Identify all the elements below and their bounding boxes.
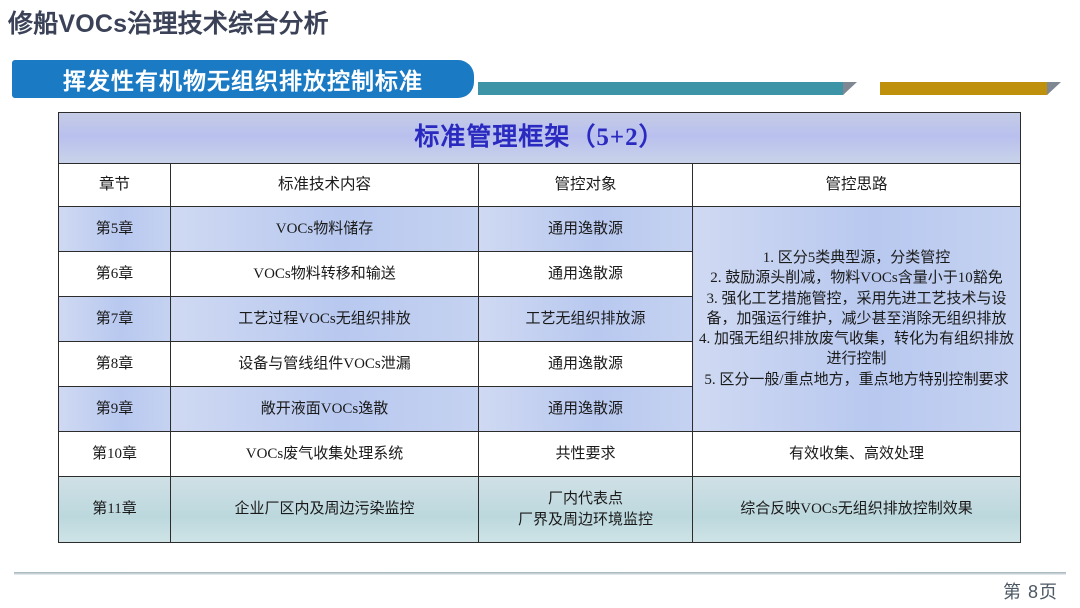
cell-content: VOCs物料储存 [171, 207, 479, 252]
slide-canvas: 修船VOCs治理技术综合分析 挥发性有机物无组织排放控制标准 [0, 0, 1080, 608]
decorative-gold-bar [880, 82, 1060, 95]
cell-chapter: 第7章 [59, 297, 171, 342]
cell-chapter: 第5章 [59, 207, 171, 252]
cell-target-line-2: 厂界及周边环境监控 [479, 510, 692, 530]
cell-content: VOCs废气收集处理系统 [171, 432, 479, 477]
cell-chapter: 第10章 [59, 432, 171, 477]
guidance-line-2: 2. 鼓励源头削减，物料VOCs含量小于10豁免 [693, 268, 1020, 288]
standard-framework-table: 标准管理框架（5+2） 章节 标准技术内容 管控对象 管控思路 第5章 VOCs… [58, 112, 1021, 543]
guidance-line-1: 1. 区分5类典型源，分类管控 [693, 248, 1020, 268]
decorative-gold-bar-tip [1047, 82, 1061, 95]
cell-target: 厂内代表点 厂界及周边环境监控 [479, 477, 693, 543]
section-banner: 挥发性有机物无组织排放控制标准 [12, 60, 474, 98]
cell-approach: 有效收集、高效处理 [693, 432, 1021, 477]
cell-target: 工艺无组织排放源 [479, 297, 693, 342]
page-number: 第 8页 [1003, 578, 1058, 604]
cell-approach-merged: 1. 区分5类典型源，分类管控 2. 鼓励源头削减，物料VOCs含量小于10豁免… [693, 207, 1021, 432]
table-row: 第11章 企业厂区内及周边污染监控 厂内代表点 厂界及周边环境监控 综合反映VO… [59, 477, 1021, 543]
cell-target: 通用逸散源 [479, 252, 693, 297]
column-header-target: 管控对象 [479, 164, 693, 207]
section-banner-label: 挥发性有机物无组织排放控制标准 [63, 62, 423, 96]
standard-framework-table-wrap: 标准管理框架（5+2） 章节 标准技术内容 管控对象 管控思路 第5章 VOCs… [58, 112, 1020, 543]
cell-chapter: 第11章 [59, 477, 171, 543]
guidance-line-4: 4. 加强无组织排放废气收集，转化为有组织排放进行控制 [693, 329, 1020, 370]
cell-target-line-1: 厂内代表点 [479, 489, 692, 509]
table-title-cell: 标准管理框架（5+2） [59, 113, 1021, 164]
cell-content: 敞开液面VOCs逸散 [171, 387, 479, 432]
cell-content: VOCs物料转移和输送 [171, 252, 479, 297]
cell-target: 通用逸散源 [479, 342, 693, 387]
cell-target: 通用逸散源 [479, 207, 693, 252]
cell-content: 工艺过程VOCs无组织排放 [171, 297, 479, 342]
decorative-teal-bar-tip [843, 82, 857, 95]
guidance-line-3: 3. 强化工艺措施管控，采用先进工艺技术与设备，加强运行维护，减少甚至消除无组织… [693, 289, 1020, 330]
cell-content: 企业厂区内及周边污染监控 [171, 477, 479, 543]
footer-divider [14, 572, 1066, 575]
cell-chapter: 第6章 [59, 252, 171, 297]
cell-target: 共性要求 [479, 432, 693, 477]
table-title-text: 标准管理框架（5+2） [414, 124, 664, 151]
column-header-chapter: 章节 [59, 164, 171, 207]
table-row: 第10章 VOCs废气收集处理系统 共性要求 有效收集、高效处理 [59, 432, 1021, 477]
cell-chapter: 第9章 [59, 387, 171, 432]
deck-title: 修船VOCs治理技术综合分析 [8, 4, 329, 40]
column-header-approach: 管控思路 [693, 164, 1021, 207]
cell-approach: 综合反映VOCs无组织排放控制效果 [693, 477, 1021, 543]
cell-chapter: 第8章 [59, 342, 171, 387]
cell-target: 通用逸散源 [479, 387, 693, 432]
table-row: 第5章 VOCs物料储存 通用逸散源 1. 区分5类典型源，分类管控 2. 鼓励… [59, 207, 1021, 252]
table-header-row: 章节 标准技术内容 管控对象 管控思路 [59, 164, 1021, 207]
decorative-teal-bar [478, 82, 856, 95]
column-header-content: 标准技术内容 [171, 164, 479, 207]
table-title-row: 标准管理框架（5+2） [59, 113, 1021, 164]
guidance-line-5: 5. 区分一般/重点地方，重点地方特别控制要求 [693, 370, 1020, 390]
cell-content: 设备与管线组件VOCs泄漏 [171, 342, 479, 387]
